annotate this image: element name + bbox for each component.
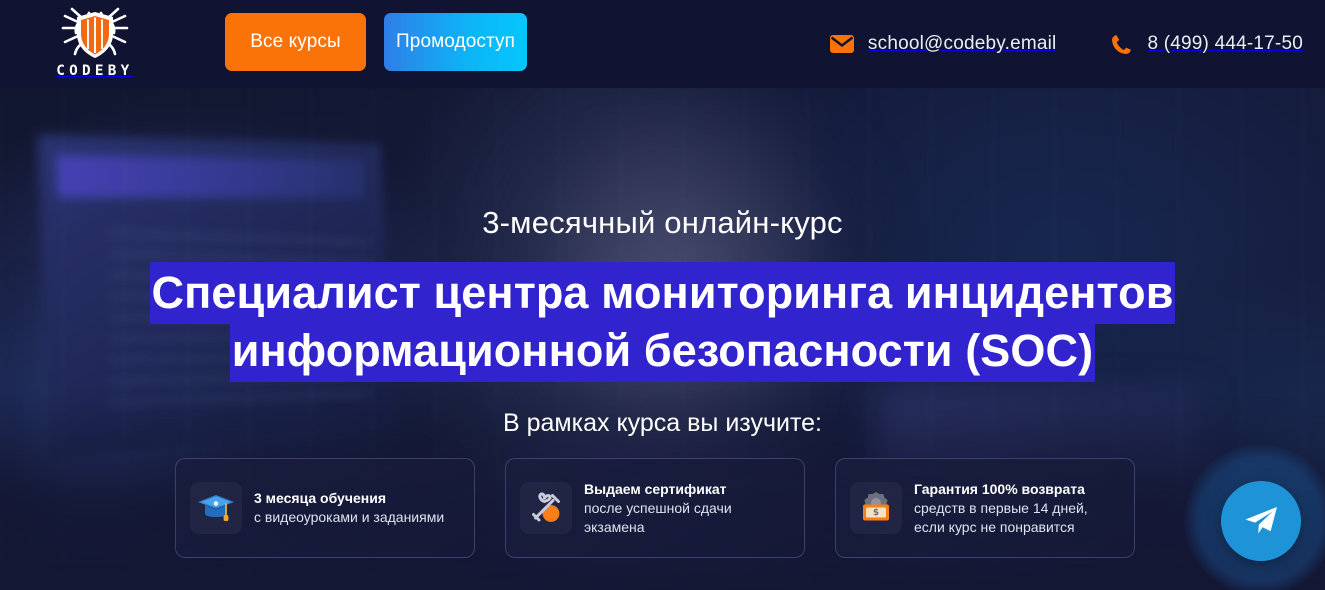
hero-subtitle: В рамках курса вы изучите: — [0, 410, 1325, 438]
phone-text: 8 (499) 444-17-50 — [1147, 33, 1303, 55]
header-action-buttons: Все курсы Промодоступ — [225, 13, 527, 71]
money-guarantee-icon-box: $ — [850, 482, 902, 534]
site-header: CODEBY Все курсы Промодоступ school@code… — [0, 0, 1325, 88]
feature-card-desc: с видеоуроками и заданиями — [254, 508, 444, 527]
logo-wordmark: CODEBY — [56, 64, 133, 78]
feature-cards: 3 месяца обучения с видеоуроками и задан… — [175, 458, 1150, 558]
telegram-fab — [1180, 436, 1325, 590]
site-logo[interactable]: CODEBY — [42, 6, 148, 84]
promo-access-button[interactable]: Промодоступ — [384, 13, 527, 71]
feature-card-title: Выдаем сертификат — [584, 480, 790, 499]
feature-card-duration: 3 месяца обучения с видеоуроками и задан… — [175, 458, 475, 558]
telegram-chat-button[interactable] — [1221, 481, 1301, 561]
telegram-paper-plane-icon — [1242, 504, 1280, 538]
all-courses-button[interactable]: Все курсы — [225, 13, 366, 71]
landing-page: CODEBY Все курсы Промодоступ school@code… — [0, 0, 1325, 590]
feature-card-desc: средств в первые 14 дней, если курс не п… — [914, 499, 1120, 537]
header-contacts: school@codeby.email 8 (499) 444-17-50 — [830, 0, 1303, 88]
diploma-scroll-icon-box — [520, 482, 572, 534]
feature-card-title: Гарантия 100% возврата — [914, 480, 1120, 499]
hero-eyebrow: 3-месячный онлайн-курс — [0, 206, 1325, 240]
graduation-cap-icon — [196, 491, 236, 525]
feature-card-guarantee: $ Гарантия 100% возврата средств в первы… — [835, 458, 1135, 558]
svg-text:$: $ — [873, 508, 879, 518]
email-link[interactable]: school@codeby.email — [830, 33, 1057, 55]
hero-section: 3-месячный онлайн-курс Специалист центра… — [0, 88, 1325, 590]
page-title: Специалист центра мониторинга инцидентов… — [0, 264, 1325, 380]
feature-card-desc: после успешной сдачи экзамена — [584, 499, 790, 537]
page-title-line-1: Специалист центра мониторинга инцидентов — [0, 264, 1325, 322]
graduation-cap-icon-box — [190, 482, 242, 534]
feature-card-certificate: Выдаем сертификат после успешной сдачи э… — [505, 458, 805, 558]
email-text: school@codeby.email — [868, 33, 1057, 55]
envelope-icon — [830, 35, 854, 53]
spider-shield-icon — [60, 6, 130, 62]
feature-card-title: 3 месяца обучения — [254, 489, 444, 508]
money-guarantee-icon: $ — [857, 490, 895, 526]
page-title-line-2: информационной безопасности (SOC) — [0, 322, 1325, 380]
diploma-scroll-icon — [527, 489, 565, 527]
phone-link[interactable]: 8 (499) 444-17-50 — [1110, 33, 1303, 56]
phone-icon — [1110, 33, 1133, 56]
